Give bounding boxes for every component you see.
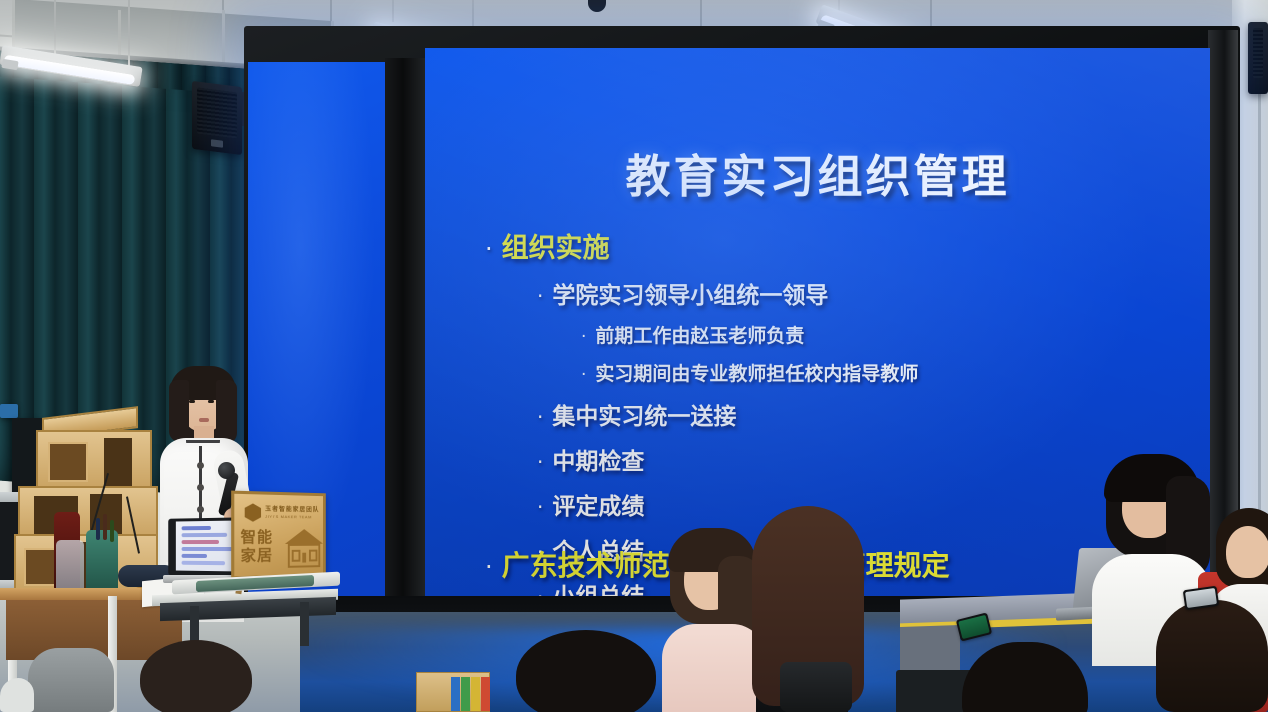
house-window (292, 550, 301, 562)
chair-arm (0, 678, 34, 712)
wall-speaker-right (1248, 22, 1268, 94)
audience-person-left (140, 640, 252, 712)
table-leg (300, 602, 309, 646)
pen (103, 514, 107, 540)
presenter-eye (208, 400, 214, 403)
hexagon-logo-icon (245, 503, 261, 522)
audience-person-center-front (516, 630, 656, 712)
phone-screen (1185, 588, 1217, 608)
bullet-dot-icon: · (485, 555, 493, 579)
screen-text-line (182, 533, 227, 537)
bullet-level2: · 集中实习统一送接 (537, 397, 1190, 431)
screen-text-line (182, 547, 234, 551)
wall-corner-edge (1258, 40, 1261, 560)
classroom-scene: 教育实习组织管理 · 组织实施 · 学院实习领导小组统一领导 · 前期工 (0, 0, 1268, 712)
light-suspension-wire (54, 0, 56, 56)
screen-text-line (182, 561, 225, 565)
bullet-dot-icon: · (537, 407, 543, 427)
bullet-spacer (485, 478, 1190, 487)
speaker-logo (211, 139, 223, 147)
dollhouse-window (48, 442, 88, 482)
presenter-hair-left (169, 380, 189, 442)
house-roof (285, 529, 323, 544)
bullet-spacer (485, 433, 1190, 442)
bullet-text: 中期检查 (552, 442, 644, 476)
light-suspension-wire (128, 0, 130, 68)
bullet-dot-icon: · (537, 497, 543, 517)
bullet-dot-icon: · (485, 237, 493, 261)
bullet-level1: · 组织实施 (485, 226, 1190, 265)
hair (962, 642, 1088, 712)
audience-person-bottom (962, 642, 1088, 712)
chair-grey[interactable] (28, 648, 114, 712)
bullet-dot-icon: · (537, 452, 543, 472)
presenter-eye (189, 400, 195, 403)
sign-english-small: JIYI'S MAKER TEAM (265, 514, 312, 520)
sign-chinese-large: 智能家居 (241, 529, 281, 566)
house-door (302, 553, 306, 563)
maker-team-sign: 玉者智能家居团队 JIYI'S MAKER TEAM 智能家居 (231, 491, 326, 580)
phone-screen (958, 615, 990, 639)
speaker-grill (197, 88, 237, 139)
bullet-dot-icon: · (537, 286, 543, 306)
head (516, 630, 656, 712)
head (1226, 526, 1268, 578)
book (471, 677, 480, 711)
screen-divider-pillar (385, 58, 425, 610)
dress-button (197, 462, 204, 469)
speaker-grill (1253, 28, 1263, 78)
screen-text-line (182, 554, 207, 558)
bullet-dot-icon: · (581, 367, 586, 384)
presenter-hair-right (216, 380, 237, 444)
house-window (309, 550, 317, 562)
screen-text-line (182, 540, 219, 544)
pen (110, 520, 114, 542)
dress-button (197, 506, 204, 513)
microphone-head-icon (218, 462, 235, 479)
bullet-text: 前期工作由赵玉老师负责 (595, 321, 804, 348)
black-bag (780, 662, 852, 712)
bullet-text: 集中实习统一送接 (552, 397, 736, 431)
dollhouse-window (24, 548, 58, 586)
bullet-spacer (485, 312, 1190, 321)
bullet-level3: · 实习期间由专业教师担任校内指导教师 (581, 359, 1190, 386)
sign-chinese-small: 玉者智能家居团队 (265, 504, 319, 514)
bullet-text: 评定成绩 (552, 487, 644, 521)
bullet-text: 实习期间由专业教师担任校内指导教师 (595, 359, 918, 386)
dress-button (197, 484, 204, 491)
led-display-wall[interactable]: 教育实习组织管理 · 组织实施 · 学院实习领导小组统一领导 · 前期工 (244, 26, 1240, 612)
light-suspension-wire (392, 0, 394, 22)
bullet-level3: · 前期工作由赵玉老师负责 (581, 321, 1190, 348)
pen (96, 518, 100, 540)
bullet-text: 组织实施 (502, 226, 610, 265)
book (481, 677, 490, 711)
bullet-level2: · 学院实习领导小组统一领导 (537, 276, 1190, 310)
dollhouse-interior (104, 438, 132, 488)
book (461, 677, 470, 711)
bullet-spacer (485, 267, 1190, 276)
wooden-book-box (416, 672, 490, 712)
bullet-dot-icon: · (581, 329, 586, 346)
audience-person-right-front (1156, 600, 1268, 712)
book (451, 677, 460, 711)
head (140, 640, 252, 712)
bullet-spacer (485, 388, 1190, 397)
hair-long (1156, 600, 1268, 712)
slide-title: 教育实习组织管理 (425, 140, 1210, 205)
house-engraving-icon (285, 529, 323, 571)
presenter-mouth (199, 418, 209, 422)
screen-text-line (182, 526, 211, 530)
bullet-spacer (485, 350, 1190, 359)
wall-speaker-left (192, 81, 242, 155)
bullet-text: 学院实习领导小组统一领导 (552, 276, 828, 310)
